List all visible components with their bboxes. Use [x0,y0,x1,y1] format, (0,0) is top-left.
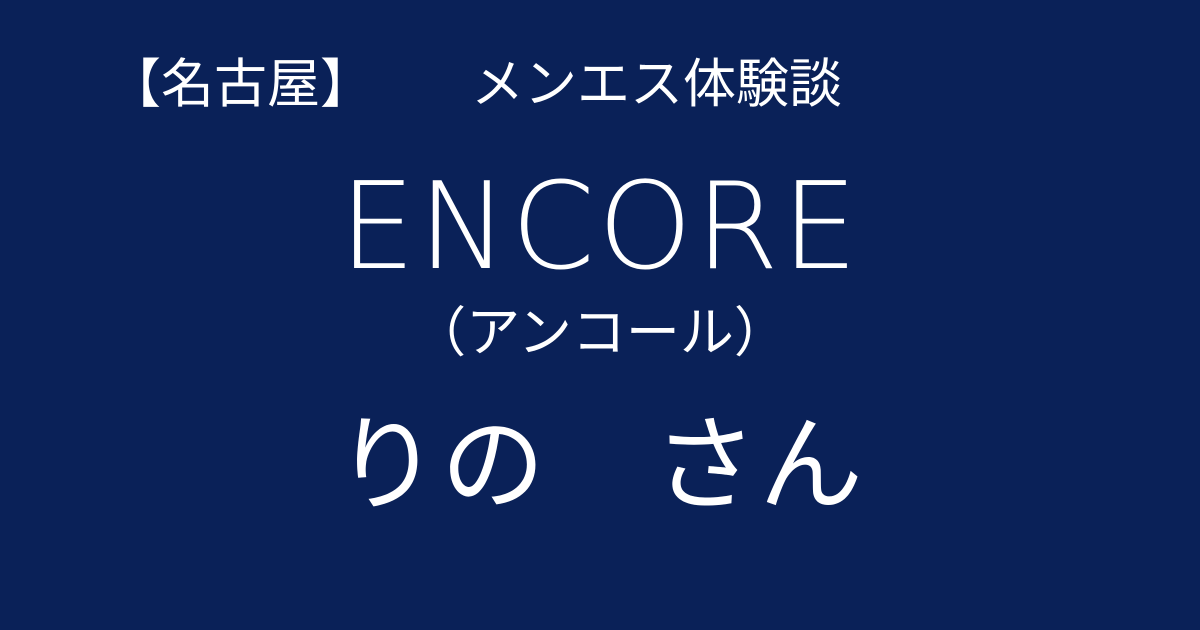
brand-reading: （アンコール） [0,302,1200,364]
main-title-stack: ENCORE （アンコール） りの さん [0,0,1200,630]
person-name: りの さん [0,408,1200,522]
thumbnail-card: 【名古屋】 メンエス体験談 ENCORE （アンコール） りの さん [0,0,1200,630]
brand-title: ENCORE [0,168,1200,288]
